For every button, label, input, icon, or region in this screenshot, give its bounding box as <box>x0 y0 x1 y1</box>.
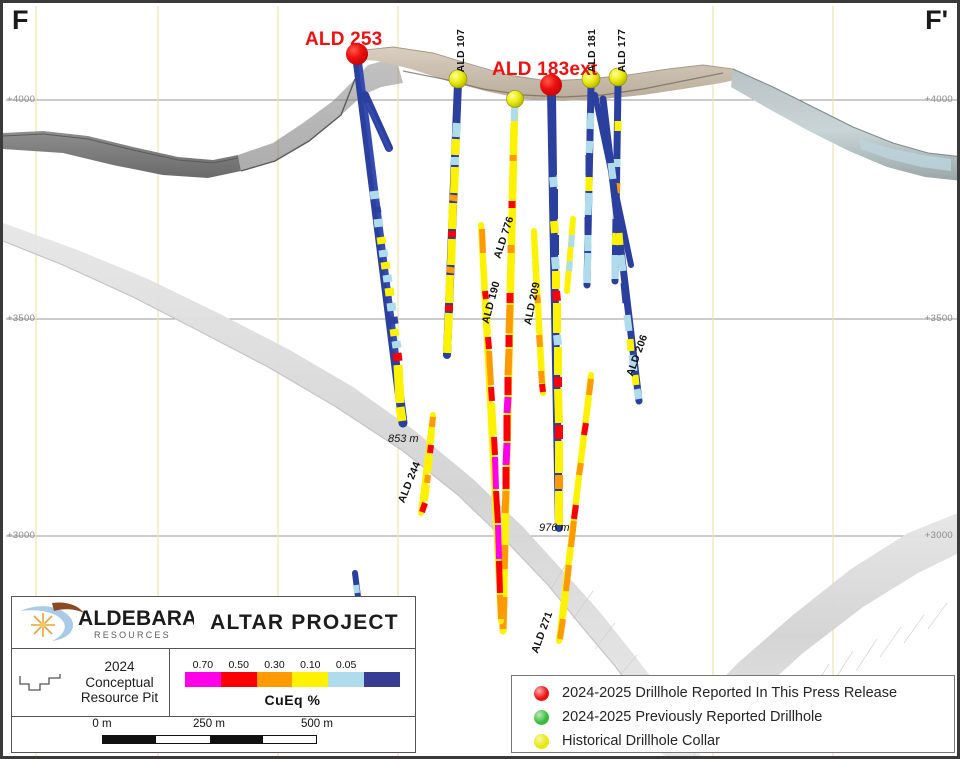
legend-text-0: 2024-2025 Drillhole Reported In This Pre… <box>562 685 897 701</box>
cueq-color-ramp <box>185 672 400 687</box>
pit-label-line-3: Resource Pit <box>70 690 169 706</box>
drillhole-trace-ald-107 <box>447 83 458 355</box>
drillhole-legend-panel: 2024-2025 Drillhole Reported In This Pre… <box>511 675 955 753</box>
scale-label-500: 500 m <box>301 718 333 730</box>
pit-legend-entry: 2024 Conceptual Resource Pit <box>12 649 170 716</box>
elevation-label-3000-left: +3000 <box>7 530 35 541</box>
cueq-tick-labels: 0.70 0.50 0.30 0.10 0.05 <box>185 659 400 671</box>
elevation-label-4000-right: +4000 <box>925 94 953 105</box>
logo-subtext: RESOURCES <box>94 630 171 640</box>
scale-bar <box>102 735 317 744</box>
legend-header-row: ALDEBARAN RESOURCES ALTAR PROJECT <box>12 597 415 649</box>
pit-label-line-2: Conceptual <box>70 675 169 691</box>
section-label-right: F' <box>925 5 948 36</box>
drillhole-trace-ald-776 <box>503 101 515 631</box>
project-title: ALTAR PROJECT <box>194 611 415 635</box>
scale-labels: 0 m 250 m 500 m <box>12 717 415 732</box>
highlight-label-ald-183ext: ALD 183ext <box>492 59 598 81</box>
cross-section-figure: F F' +4000 +3500 +3000 +4000 +3500 +3000… <box>0 0 960 759</box>
yellow-collar-icon <box>534 734 549 749</box>
scale-segment-1 <box>156 736 209 743</box>
legend-item-previously-reported: 2024-2025 Previously Reported Drillhole <box>534 705 954 729</box>
elevation-label-4000-left: +4000 <box>7 94 35 105</box>
cueq-swatch-2 <box>257 672 293 687</box>
cueq-swatch-3 <box>292 672 328 687</box>
cueq-tick-0: 0.70 <box>185 659 221 671</box>
cueq-tick-2: 0.30 <box>257 659 293 671</box>
logo-wordmark: ALDEBARAN <box>78 607 194 630</box>
cueq-swatch-5 <box>364 672 400 687</box>
drillhole-trace-stub <box>567 219 573 291</box>
cueq-swatch-1 <box>221 672 257 687</box>
legend-item-historical-collar: Historical Drillhole Collar <box>534 729 954 753</box>
cueq-legend: 0.70 0.50 0.30 0.10 0.05 CuEq % <box>170 649 415 716</box>
drillhole-trace-ald-183ext <box>551 91 559 528</box>
cueq-caption: CuEq % <box>265 692 321 708</box>
cueq-swatch-0 <box>185 672 221 687</box>
scale-segment-3 <box>263 736 316 743</box>
pit-label-line-1: 2024 <box>70 659 169 675</box>
pit-legend-label: 2024 Conceptual Resource Pit <box>70 659 169 707</box>
depth-label-976m: 976 m <box>539 522 570 534</box>
scale-segment-0 <box>103 736 156 743</box>
aldebaran-logo: ALDEBARAN RESOURCES <box>12 597 194 648</box>
drillhole-label-ald-181: ALD 181 <box>586 29 598 72</box>
topography-surface <box>3 47 960 181</box>
drillhole-label-ald-107: ALD 107 <box>455 29 467 72</box>
scale-bar-row: 0 m 250 m 500 m <box>12 717 415 750</box>
map-legend-panel: ALDEBARAN RESOURCES ALTAR PROJECT 2024 C… <box>11 596 416 753</box>
drillhole-trace-small-blue <box>355 573 358 597</box>
elevation-label-3000-right: +3000 <box>925 530 953 541</box>
cueq-swatch-4 <box>328 672 364 687</box>
drillhole-trace-ald-253 <box>357 59 403 423</box>
red-collar-icon <box>534 686 549 701</box>
conceptual-pit-icon <box>16 668 66 698</box>
legend-item-reported-this-release: 2024-2025 Drillhole Reported In This Pre… <box>534 681 954 705</box>
collar-ald-776 <box>507 91 524 108</box>
cueq-tick-1: 0.50 <box>221 659 257 671</box>
scale-label-250: 250 m <box>193 718 225 730</box>
green-collar-icon <box>534 710 549 725</box>
legend-text-2: Historical Drillhole Collar <box>562 733 720 749</box>
cueq-tick-3: 0.10 <box>292 659 328 671</box>
scale-label-0: 0 m <box>92 718 111 730</box>
section-label-left: F <box>12 5 29 36</box>
collar-ald-107 <box>449 70 467 88</box>
legend-middle-row: 2024 Conceptual Resource Pit 0.70 0.50 0… <box>12 649 415 717</box>
drillhole-label-ald-177: ALD 177 <box>616 29 628 72</box>
elevation-label-3500-right: +3500 <box>925 313 953 324</box>
scale-segment-2 <box>210 736 263 743</box>
highlight-label-ald-253: ALD 253 <box>305 29 382 51</box>
depth-label-853m: 853 m <box>388 433 419 445</box>
cueq-tick-4: 0.05 <box>328 659 364 671</box>
elevation-label-3500-left: +3500 <box>7 313 35 324</box>
legend-text-1: 2024-2025 Previously Reported Drillhole <box>562 709 822 725</box>
